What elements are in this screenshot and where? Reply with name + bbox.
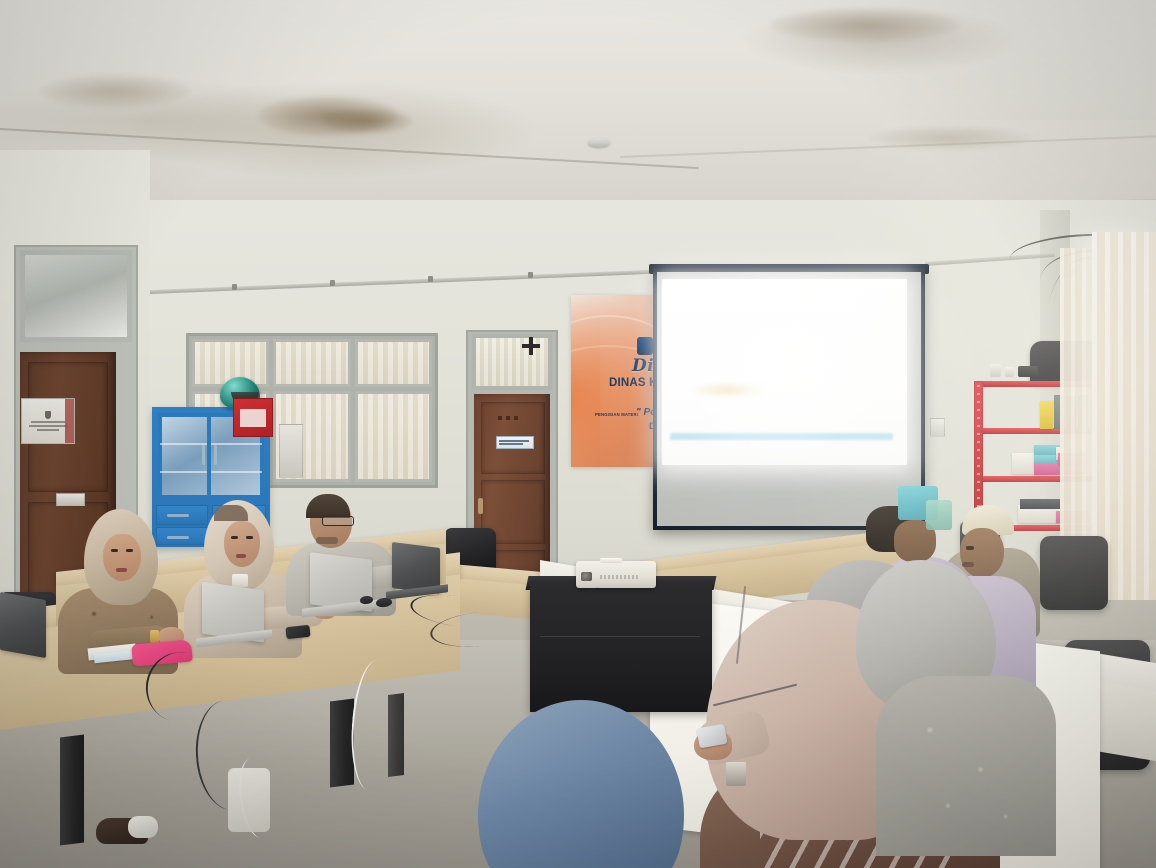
banner-script-text: Di [632, 356, 654, 376]
participant-2-id-badge [232, 574, 248, 587]
cabinet-seam [540, 636, 700, 637]
shoe [128, 816, 158, 838]
participant-1-eye [111, 549, 118, 552]
participant-1-eye [126, 549, 133, 552]
cabinet-drawer[interactable] [156, 505, 208, 525]
meeting-room-photo: Di DINAS KELA PENGISIAN MATERI " Pol D [0, 0, 1156, 868]
window-pane [273, 339, 350, 387]
cabinet-handle[interactable] [202, 445, 205, 465]
participant-1-face [103, 534, 141, 581]
plate-text-line [499, 440, 529, 442]
plate-text-line [499, 443, 523, 445]
laptop-4-screen[interactable] [0, 592, 46, 658]
door-left-transom-window [20, 250, 132, 342]
shelf-top-items [990, 364, 1038, 377]
green-item [926, 500, 952, 530]
container-item [1005, 367, 1014, 377]
participant-2-headband [214, 505, 248, 521]
window-pane [355, 339, 432, 387]
smoke-detector-icon [588, 138, 610, 147]
cabinet-shelf [160, 443, 262, 445]
participant-2-eye [231, 536, 238, 539]
door-vent [498, 416, 522, 420]
cabinet-drawer[interactable] [156, 527, 208, 545]
table-leg [330, 699, 354, 788]
sign-accent-bar [65, 399, 74, 443]
smartphone[interactable] [285, 625, 310, 639]
banner-material-label: PENGISIAN MATERI [595, 412, 638, 417]
participant-1-mouth [116, 568, 127, 572]
floor-cable-bundle [228, 768, 270, 832]
participant-4-eye [966, 546, 974, 550]
participant-4-face [960, 528, 1004, 578]
red-wall-sign [233, 398, 273, 437]
door-center-transom-window [472, 334, 552, 390]
crest-icon [45, 411, 51, 419]
window-pane [355, 391, 432, 482]
cabinet-shelf [160, 471, 262, 473]
participant-2-eye [246, 536, 253, 539]
ceiling-water-stain [770, 8, 960, 42]
office-chair[interactable] [1040, 536, 1108, 610]
cross-decal-icon [522, 344, 540, 348]
projector-vent [600, 575, 640, 579]
table-leg [60, 735, 84, 846]
yellow-box [1040, 401, 1053, 429]
cabinet-handle[interactable] [214, 445, 217, 465]
light-switch[interactable] [930, 418, 945, 437]
wristwatch [726, 762, 746, 786]
slide-highlight-band [692, 385, 767, 395]
participant-3-glasses [322, 516, 354, 526]
banner-logo-icon [637, 337, 653, 355]
sign-text-line [29, 425, 67, 427]
conduit-clip [232, 284, 237, 290]
sign-text-line [31, 421, 65, 423]
slide-accent-bar [670, 433, 893, 440]
container-item [990, 364, 1001, 377]
participant-2-face [224, 521, 260, 567]
participant-4-mouth [962, 562, 974, 567]
participant-1-bracelet [150, 630, 159, 643]
conduit-clip [528, 272, 533, 278]
projector-lens [581, 572, 592, 581]
device-item [1018, 366, 1038, 377]
projector-top-panel [600, 558, 622, 563]
conduit-clip [428, 276, 433, 282]
participant-6-body-outer [876, 676, 1056, 856]
ceiling-water-stain [870, 126, 1030, 150]
sign-text-line [37, 429, 59, 431]
dark-folder [1020, 499, 1060, 509]
sign-inner-panel [240, 409, 266, 427]
participant-3-beard [316, 537, 338, 544]
conduit-clip [330, 280, 335, 286]
cabinet-divider [207, 413, 211, 499]
door-handle[interactable] [478, 498, 483, 514]
door-left-notice-sign [21, 398, 75, 444]
projector-cabinet[interactable] [530, 582, 712, 712]
participant-2-mouth [236, 554, 246, 558]
door-left-name-plate [56, 493, 85, 506]
ceiling-water-stain [40, 74, 190, 108]
ceiling-water-stain [322, 108, 412, 134]
wall-notice-board [279, 424, 303, 478]
door-center-room-plate [496, 436, 534, 449]
